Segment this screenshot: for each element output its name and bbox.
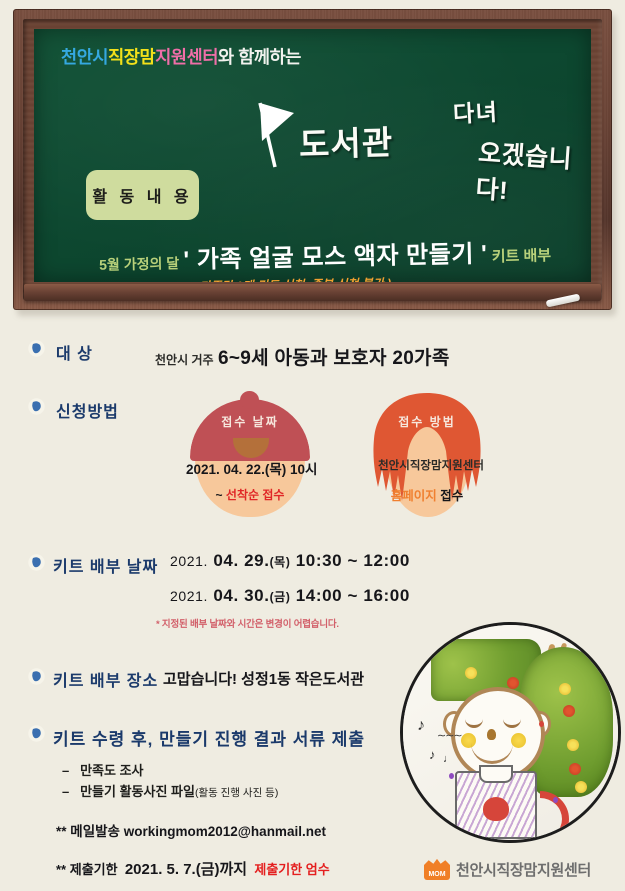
mail-line: ** 메일발송 workingmom2012@hanmail.net <box>56 820 326 840</box>
activity-line: 5월 가정의 달 ' 가족 얼굴 모스 액자 만들기 ' 키트 배부 <box>99 232 552 276</box>
activity-badge: 활 동 내 용 <box>86 170 199 220</box>
target-main: 6~9세 아동과 보호자 20가족 <box>218 348 450 369</box>
face-method-accept: 접수 <box>440 489 463 503</box>
mail-marker: ** <box>56 824 67 839</box>
bullet-icon <box>28 398 45 415</box>
face-illustration-method: 접수 방법 천안시직장맘지원센터 홈페이지 접수 <box>362 391 492 519</box>
submit-item-1-text: 만들기 활동사진 파일 <box>80 784 195 799</box>
kit-date-1-date: 04. 29. <box>213 551 269 570</box>
face-date-title: 접수 날짜 <box>186 413 314 430</box>
bullet-icon <box>28 554 45 571</box>
squiggle-mark: ∼∼∼ <box>437 729 459 739</box>
flower-icon <box>559 683 571 695</box>
submit-item-0-dash: – <box>62 763 69 778</box>
row-value-target: 천안시 거주 6~9세 아동과 보호자 20가족 <box>155 343 450 370</box>
music-note-icon: ♩ <box>443 753 454 765</box>
poster-root: 천안시직장맘지원센터와 함께하는 도서관 다녀 오겠습니다! 활 동 내 용 5… <box>0 0 625 891</box>
confetti-dot <box>539 721 544 727</box>
nose-shape <box>487 729 496 740</box>
face-date-sub-text: 선착순 접수 <box>226 488 285 502</box>
kit-date-2-dow: (금) <box>270 590 291 604</box>
header-part-workingmom: 직장맘 <box>108 47 155 67</box>
activity-prefix: 5월 가정의 달 <box>99 255 179 273</box>
row-label-apply: 신청방법 <box>56 398 119 422</box>
kit-date-line-1: 2021. 04. 29.(목) 10:30 ~ 12:00 <box>170 551 410 571</box>
header-part-center: 지원센터 <box>155 47 218 67</box>
mail-address[interactable]: workingmom2012@hanmail.net <box>124 824 326 839</box>
row-label-kit-place: 키트 배부 장소 <box>53 667 158 691</box>
craft-photo: ♪ ♪ ♩ ∼∼∼ <box>400 622 621 843</box>
mom-house-icon: MOM <box>424 858 450 880</box>
music-note-icon: ♪ <box>417 717 425 735</box>
submit-item-0-text: 만족도 조사 <box>80 763 143 778</box>
flower-icon <box>569 763 581 775</box>
cheek-flower <box>511 733 526 748</box>
chalkboard: 천안시직장맘지원센터와 함께하는 도서관 다녀 오겠습니다! 활 동 내 용 5… <box>13 9 612 310</box>
deadline-date: 2021. 5. 7.(금)까지 <box>125 861 247 878</box>
kit-date-2-year: 2021. <box>170 588 208 604</box>
logo-mark-text: MOM <box>428 871 445 880</box>
row-value-kit-place: 고맙습니다! 성정1동 작은도서관 <box>163 668 364 689</box>
face-method-org: 천안시직장맘지원센터 <box>362 457 500 473</box>
hat-knob <box>240 391 259 409</box>
submit-item-1: – 만들기 활동사진 파일(활동 진행 사진 등) <box>62 781 278 800</box>
flower-icon <box>575 781 587 793</box>
chalkboard-ledge <box>24 284 601 301</box>
board-title-library: 도서관 <box>298 116 393 166</box>
confetti-dot <box>449 773 454 779</box>
board-title-go: 다녀 <box>452 93 499 129</box>
face-method-homepage: 홈페이지 <box>391 489 437 503</box>
face-date-value: 2021. 04. 22.(목) 10시 <box>186 458 316 478</box>
chalkboard-surface: 천안시직장맘지원센터와 함께하는 도서관 다녀 오겠습니다! 활 동 내 용 5… <box>34 29 591 282</box>
bullet-icon <box>28 668 45 685</box>
header-part-city: 천안시 <box>61 47 108 67</box>
mail-label: 메일발송 <box>70 824 120 839</box>
logo-name: 천안시직장맘지원센터 <box>456 859 591 880</box>
deadline-label: 제출기한 <box>70 862 118 877</box>
row-label-submit: 키트 수령 후, 만들기 진행 결과 서류 제출 <box>53 725 365 750</box>
submit-item-1-dash: – <box>62 784 69 799</box>
deadline-marker: ** <box>56 862 66 877</box>
deadline-line: ** 제출기한 2021. 5. 7.(금)까지 제출기한 엄수 <box>56 858 330 879</box>
target-prefix: 천안시 거주 <box>155 353 214 367</box>
activity-suffix: 키트 배부 <box>492 247 552 265</box>
kit-date-2-date: 04. 30. <box>213 586 269 605</box>
tilde-mark: ~ <box>216 488 223 502</box>
footer-logo: MOM 천안시직장맘지원센터 <box>424 858 591 880</box>
flower-icon <box>563 705 575 717</box>
flower-icon <box>567 739 579 751</box>
kit-date-1-year: 2021. <box>170 553 208 569</box>
heart-shape <box>483 797 509 821</box>
confetti-dot <box>553 797 558 803</box>
board-header-line: 천안시직장맘지원센터와 함께하는 <box>61 44 301 69</box>
submit-item-1-tiny: (활동 진행 사진 등) <box>195 787 278 799</box>
activity-main: ' 가족 얼굴 모스 액자 만들기 ' <box>183 241 487 274</box>
kit-date-1-time: 10:30 ~ 12:00 <box>296 551 410 570</box>
flag-icon <box>256 97 298 169</box>
row-label-target: 대 상 <box>56 340 93 364</box>
bullet-icon <box>28 725 45 742</box>
header-part-with: 와 함께하는 <box>218 47 301 67</box>
activity-note: ( 가족당 1개 키트 신청, 중복 신청 불가 ) <box>192 274 392 282</box>
flower-icon <box>465 667 477 679</box>
deadline-warning: 제출기한 엄수 <box>254 862 329 877</box>
face-illustration-date: 접수 날짜 2021. 04. 22.(목) 10시 ~ 선착순 접수 <box>186 391 314 519</box>
submit-item-0: – 만족도 조사 <box>62 760 144 779</box>
face-method-sub: 홈페이지 접수 <box>362 485 492 504</box>
bullet-icon <box>28 340 45 357</box>
row-label-kit-date: 키트 배부 날짜 <box>53 553 158 577</box>
face-date-sub: ~ 선착순 접수 <box>186 486 314 503</box>
board-title-come: 오겠습니다! <box>475 133 591 213</box>
kit-date-1-dow: (목) <box>270 555 291 569</box>
face-method-title: 접수 방법 <box>362 413 492 430</box>
flower-icon <box>507 677 519 689</box>
collar-shape <box>479 765 513 783</box>
kit-date-line-2: 2021. 04. 30.(금) 14:00 ~ 16:00 <box>170 586 410 606</box>
music-note-icon: ♪ <box>429 747 436 762</box>
kit-date-note: * 지정된 배부 날짜와 시간은 변경이 어렵습니다. <box>156 616 339 630</box>
kit-date-2-time: 14:00 ~ 16:00 <box>296 586 410 605</box>
